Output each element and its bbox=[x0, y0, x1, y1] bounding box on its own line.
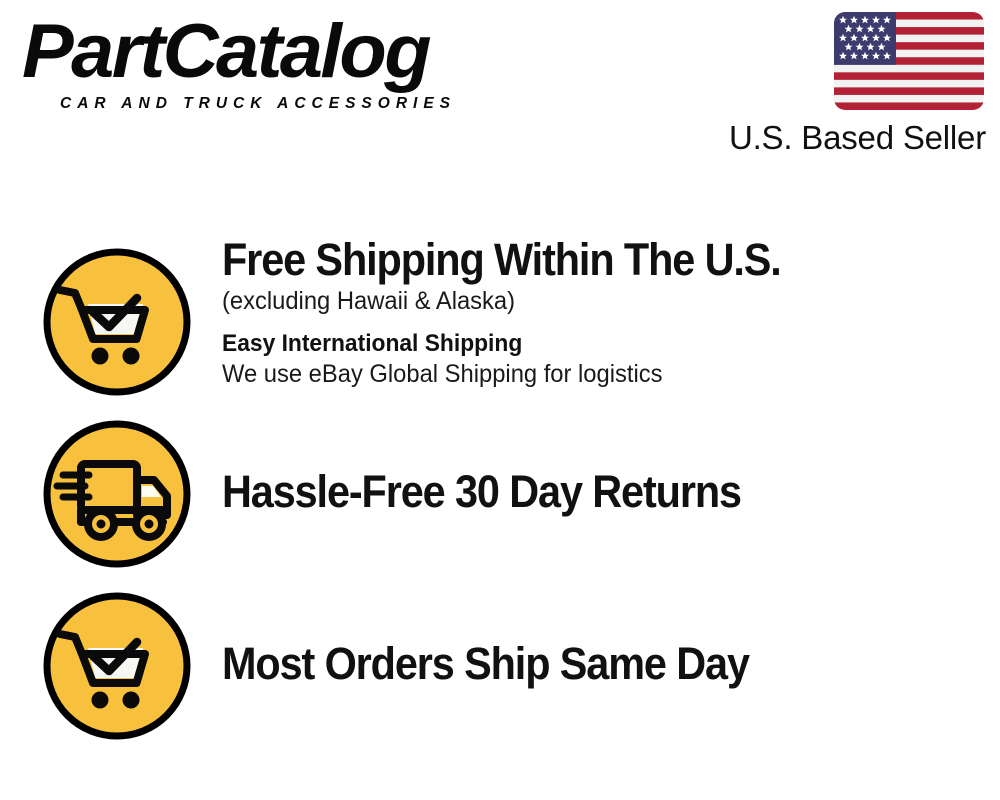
shopping-cart-check-icon bbox=[41, 246, 193, 398]
feature-headline: Free Shipping Within The U.S. bbox=[222, 236, 781, 283]
feature-text-returns: Hassle-Free 30 Day Returns bbox=[222, 468, 786, 515]
feature-headline: Hassle-Free 30 Day Returns bbox=[222, 468, 741, 515]
us-flag-icon bbox=[834, 12, 984, 110]
feature-subline: (excluding Hawaii & Alaska) bbox=[222, 287, 799, 316]
brand-tagline: CAR AND TRUCK ACCESSORIES bbox=[60, 96, 456, 112]
feature-sub-heading: Easy International Shipping bbox=[222, 330, 799, 358]
us-based-seller-badge: U.S. Based Seller bbox=[716, 12, 986, 162]
brand-name: PartCatalog bbox=[22, 14, 429, 90]
us-based-seller-label: U.S. Based Seller bbox=[729, 118, 986, 158]
feature-text-same-day-ship: Most Orders Ship Same Day bbox=[222, 640, 795, 687]
feature-text-free-shipping: Free Shipping Within The U.S. (excluding… bbox=[222, 236, 829, 402]
brand-logo[interactable]: PartCatalog CAR AND TRUCK ACCESSORIES bbox=[22, 20, 492, 115]
feature-sub-detail: We use eBay Global Shipping for logistic… bbox=[222, 360, 799, 389]
shipping-info-banner: PartCatalog CAR AND TRUCK ACCESSORIES bbox=[0, 0, 1000, 800]
shopping-cart-check-icon bbox=[41, 590, 193, 742]
feature-headline: Most Orders Ship Same Day bbox=[222, 640, 749, 687]
delivery-truck-icon bbox=[41, 418, 193, 570]
